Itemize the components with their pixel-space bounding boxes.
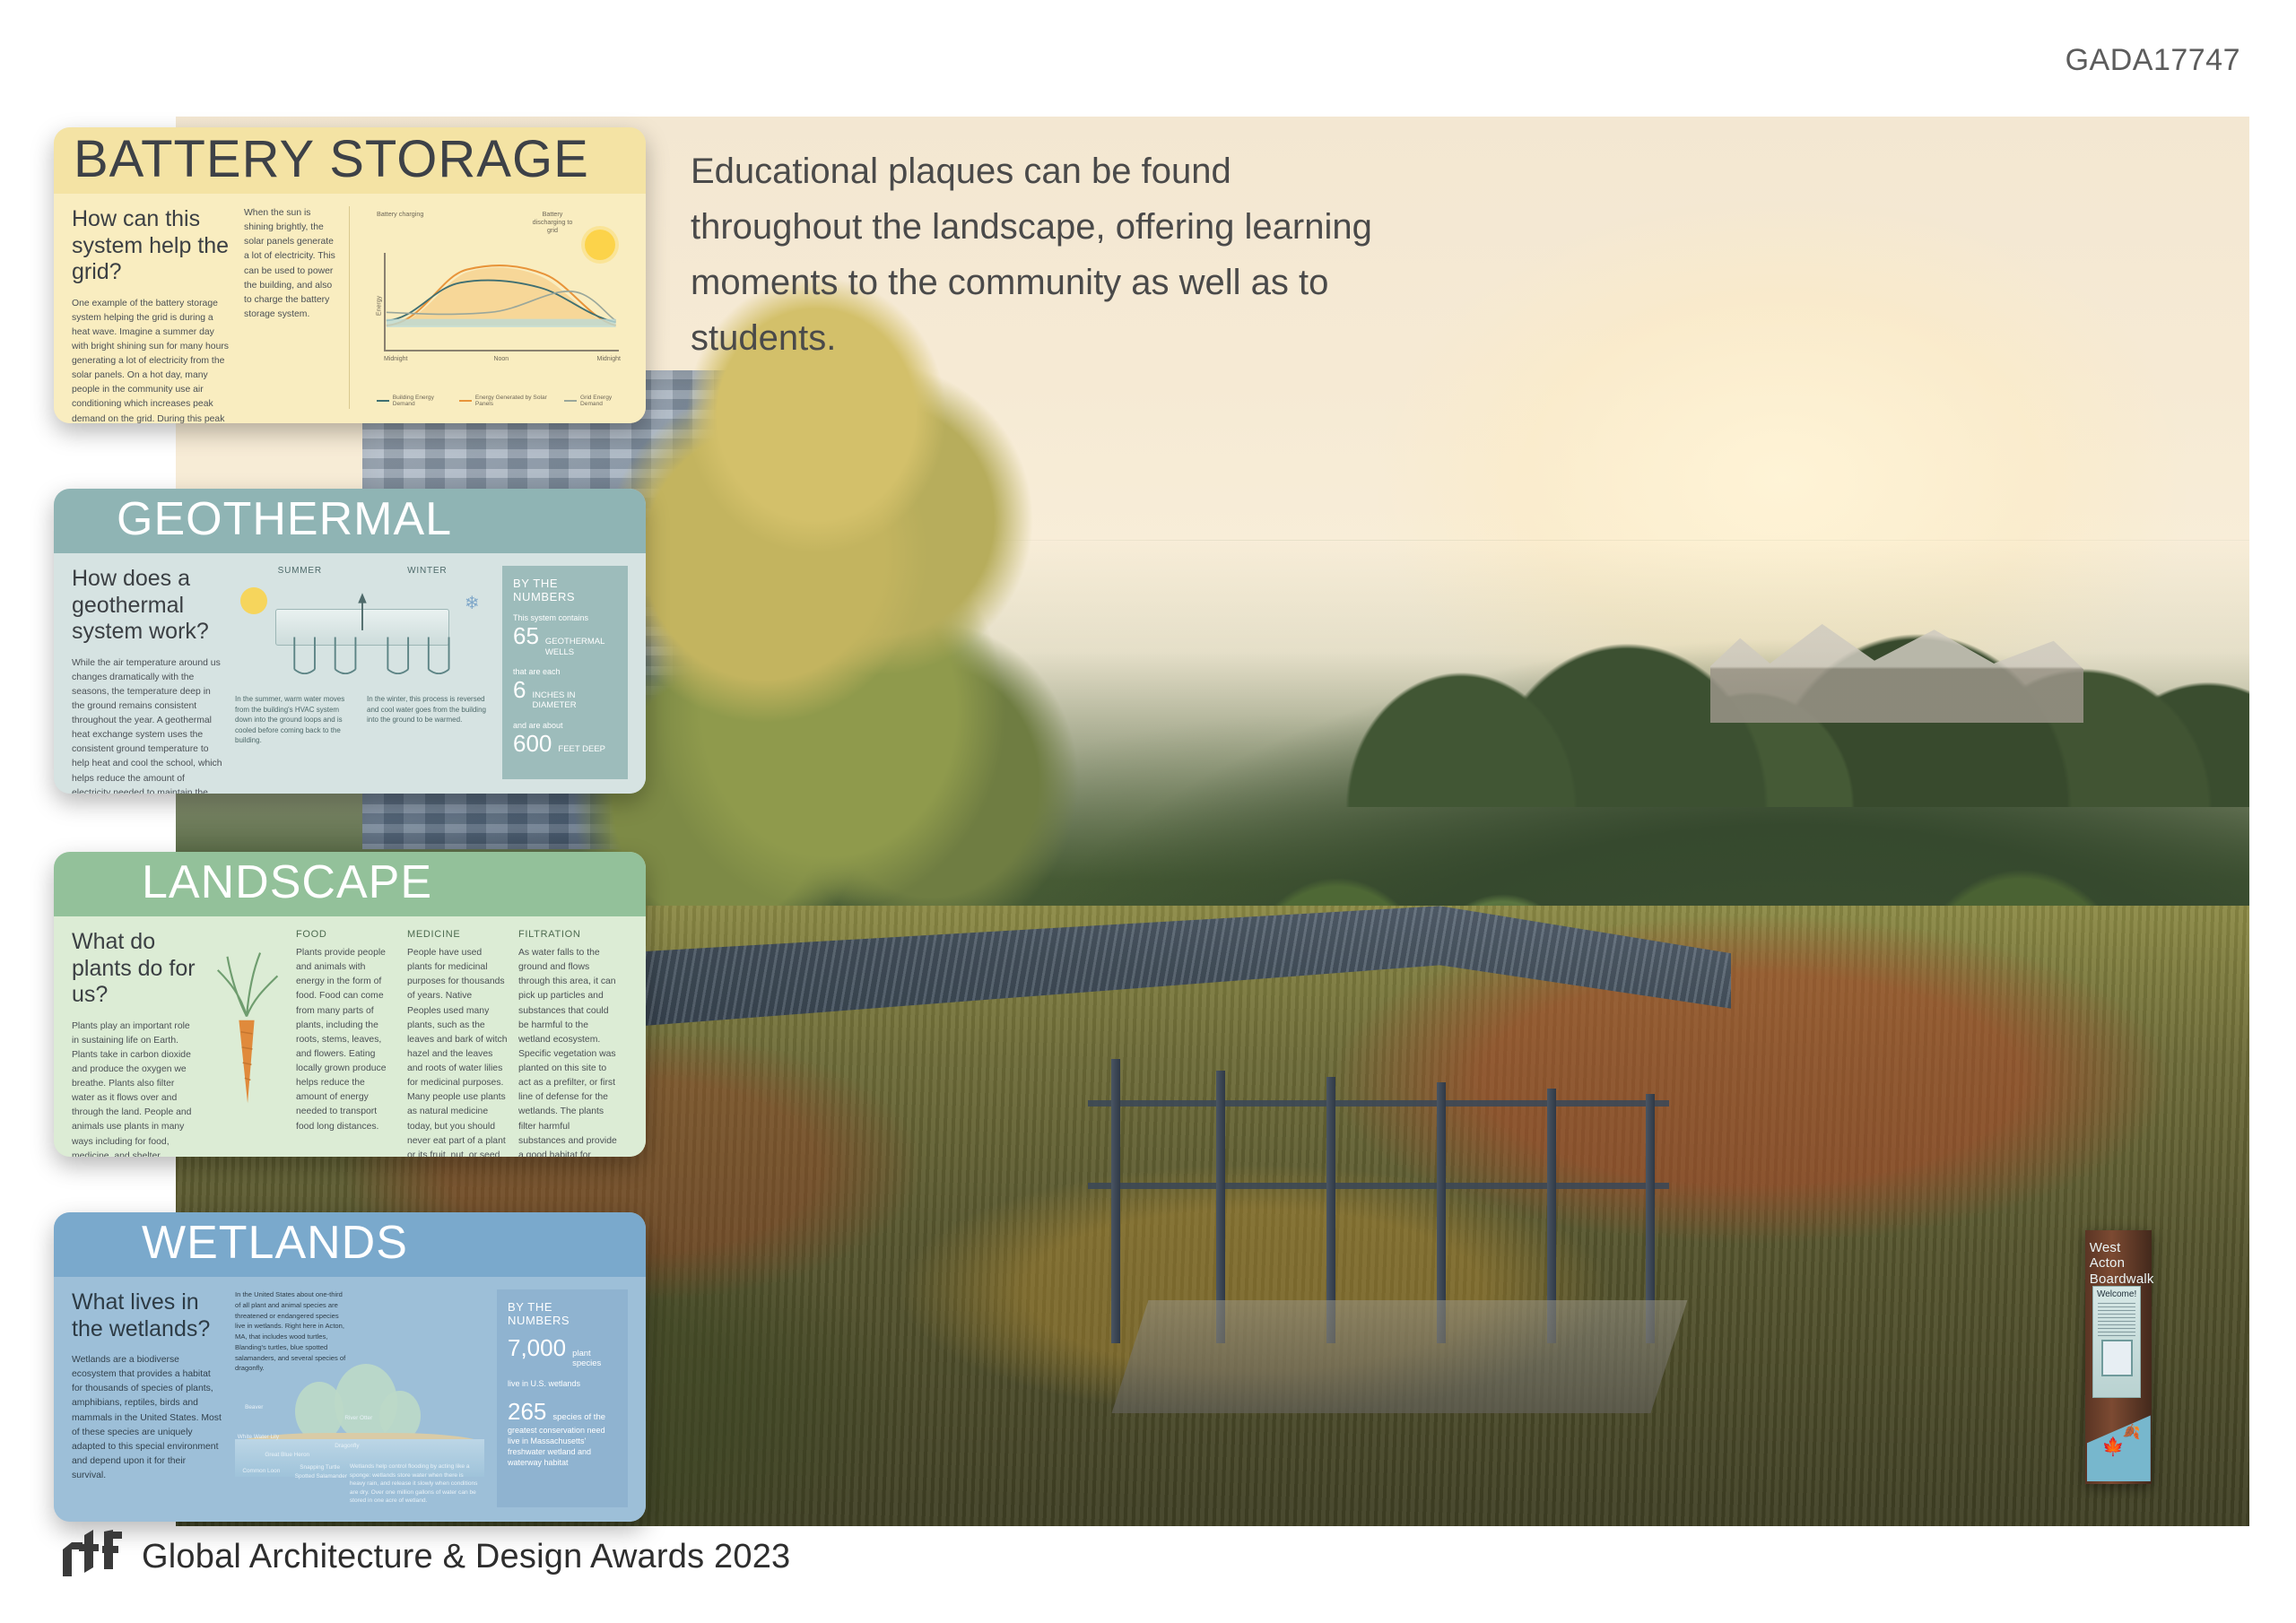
number-row: 600 FEET DEEP <box>513 732 617 755</box>
plaque-geothermal[interactable]: GEOTHERMAL How does a geothermal system … <box>54 489 646 794</box>
season-winter-label: WINTER <box>407 566 447 576</box>
species-label: Common Loon <box>242 1468 280 1474</box>
plaque-wetlands[interactable]: WETLANDS What lives in the wetlands? Wet… <box>54 1212 646 1522</box>
boardwalk-sign: West Acton Boardwalk Welcome! 🍁 🍂 <box>2085 1230 2152 1484</box>
season-summer-label: SUMMER <box>278 566 322 576</box>
plaque-body: What lives in the wetlands? Wetlands are… <box>54 1277 646 1522</box>
plaque-body: How can this system help the grid? One e… <box>54 194 646 423</box>
species-label: Great Blue Heron <box>265 1452 309 1458</box>
number-value: 7,000 <box>508 1336 566 1359</box>
maple-leaf-icon: 🍁 <box>2102 1436 2125 1458</box>
sign-info-panel: Welcome! <box>2092 1286 2142 1397</box>
plaque-landscape[interactable]: LANDSCAPE What do plants do for us? Plan… <box>54 852 646 1157</box>
plaque-header: LANDSCAPE <box>54 852 646 916</box>
species-label: White Water Lily <box>238 1434 279 1440</box>
number-value: 6 <box>513 678 526 701</box>
loop-diagram <box>235 581 490 674</box>
plaque-title: BATTERY STORAGE <box>74 129 589 189</box>
award-board: GADA17747 West Acton Boardwalk Welcome! <box>0 0 2296 1623</box>
legend-label: Energy Generated by Solar Panels <box>475 395 553 407</box>
wetlands-text-column: What lives in the wetlands? Wetlands are… <box>72 1289 222 1507</box>
boardwalk-deck <box>1111 1300 1687 1413</box>
caption-bottom-text: Wetlands help control flooding by acting… <box>350 1462 480 1506</box>
carrot-illustration <box>208 929 285 1142</box>
column-text: Plants provide people and animals with e… <box>296 946 396 1134</box>
species-label: Beaver <box>245 1404 263 1410</box>
species-label: Snapping Turtle <box>300 1464 340 1471</box>
caption-winter: In the winter, this process is reversed … <box>367 694 490 746</box>
column-text: As water falls to the ground and flows t… <box>518 946 619 1157</box>
plaque-title: GEOTHERMAL <box>74 492 452 546</box>
chart-plot-area: Energy Midnight Noon Midnight <box>375 233 622 378</box>
plaque-body: How does a geothermal system work? While… <box>54 553 646 794</box>
chart-curves <box>375 233 622 332</box>
plaque-question: What lives in the wetlands? <box>72 1289 222 1342</box>
legend-item: Building Energy Demand <box>377 395 448 407</box>
species-label: Dragonfly <box>335 1443 359 1449</box>
rtf-logo <box>63 1530 122 1584</box>
plaque-paragraph: Wetlands are a biodiverse ecosystem that… <box>72 1353 222 1483</box>
number-row: 7,000 plant species <box>508 1336 617 1369</box>
wetlands-by-the-numbers: BY THE NUMBERS 7,000 plant species live … <box>497 1289 628 1507</box>
number-row: 265 species of the <box>508 1400 617 1423</box>
number-unit: plant species <box>572 1349 617 1369</box>
plaque-title: LANDSCAPE <box>74 855 432 909</box>
legend-label: Building Energy Demand <box>393 395 448 407</box>
caption-left-text: In the United States about one-third of … <box>235 1289 350 1374</box>
plaque-paragraph: One example of the battery storage syste… <box>72 297 231 424</box>
caption-left-text: When the sun is shining brightly, the so… <box>244 206 340 322</box>
numbers-title: BY THE NUMBERS <box>508 1300 617 1327</box>
column-text: People have used plants for medicinal pu… <box>407 946 508 1157</box>
legend-item: Grid Energy Demand <box>564 395 628 407</box>
plaque-paragraph: While the air temperature around us chan… <box>72 656 222 794</box>
sign-panel-title: Welcome! <box>2093 1289 2141 1299</box>
plaque-battery-storage[interactable]: BATTERY STORAGE How can this system help… <box>54 127 646 423</box>
plaque-header: GEOTHERMAL <box>54 489 646 553</box>
number-row: 6 INCHES IN DIAMETER <box>513 678 617 711</box>
plaque-question: How does a geothermal system work? <box>72 566 222 646</box>
x-axis <box>384 350 619 352</box>
column-heading: FILTRATION <box>518 929 619 940</box>
landscape-column-filtration: FILTRATION As water falls to the ground … <box>518 929 619 1142</box>
number-lead: that are each <box>513 666 617 677</box>
plaque-header: WETLANDS <box>54 1212 646 1277</box>
season-headings: SUMMER WINTER <box>235 566 490 576</box>
landscape-text-column: What do plants do for us? Plants play an… <box>72 929 197 1142</box>
geothermal-by-the-numbers: BY THE NUMBERS This system contains 65 G… <box>502 566 628 779</box>
plaque-paragraph: Plants play an important role in sustain… <box>72 1020 197 1158</box>
x-tick-2: Midnight <box>597 356 621 362</box>
sign-panel-map <box>2101 1340 2133 1377</box>
plaque-question: How can this system help the grid? <box>72 206 231 286</box>
intro-paragraph: Educational plaques can be found through… <box>691 143 1372 366</box>
landscape-column-food: FOOD Plants provide people and animals w… <box>296 929 396 1142</box>
sign-title: West Acton Boardwalk <box>2090 1240 2148 1287</box>
number-unit: INCHES IN DIAMETER <box>532 690 617 711</box>
number-row: 65 GEOTHERMAL WELLS <box>513 624 617 657</box>
column-heading: MEDICINE <box>407 929 508 940</box>
battery-text-column: How can this system help the grid? One e… <box>72 206 231 409</box>
geothermal-text-column: How does a geothermal system work? While… <box>72 566 222 779</box>
chart-legend: Building Energy Demand Energy Generated … <box>377 395 628 407</box>
sign-leaf-graphic: 🍁 🍂 <box>2087 1415 2151 1481</box>
landscape-column-medicine: MEDICINE People have used plants for med… <box>407 929 508 1142</box>
number-lead: live in U.S. wetlands <box>508 1378 617 1389</box>
wetlands-illustration: In the United States about one-third of … <box>235 1289 484 1507</box>
oak-leaf-icon: 🍂 <box>2123 1423 2141 1441</box>
building-diagram: ❄ <box>235 581 490 689</box>
number-unit: GEOTHERMAL WELLS <box>545 637 617 657</box>
x-tick-0: Midnight <box>384 356 407 362</box>
number-value: 265 <box>508 1400 546 1423</box>
pavilion-structure <box>1088 1047 1668 1343</box>
legend-item: Energy Generated by Solar Panels <box>459 395 553 407</box>
annotation-charging: Battery charging <box>377 210 423 218</box>
number-value: 600 <box>513 732 552 755</box>
plaque-body: What do plants do for us? Plants play an… <box>54 916 646 1157</box>
battery-chart: Battery charging Battery discharging to … <box>362 206 628 409</box>
carrot-icon <box>208 929 285 1142</box>
geothermal-diagram: SUMMER WINTER ❄ <box>235 566 490 779</box>
column-heading: FOOD <box>296 929 396 940</box>
plaque-header: BATTERY STORAGE <box>54 127 646 194</box>
annotation-discharging: Battery discharging to grid <box>527 210 578 234</box>
footer: Global Architecture & Design Awards 2023 <box>63 1530 790 1584</box>
number-unit: FEET DEEP <box>558 744 605 754</box>
number-lead: greatest conservation need live in Massa… <box>508 1425 617 1469</box>
number-value: 65 <box>513 624 539 647</box>
footer-text: Global Architecture & Design Awards 2023 <box>142 1538 790 1576</box>
number-unit: species of the <box>552 1412 605 1422</box>
plaque-title: WETLANDS <box>74 1216 408 1270</box>
battery-caption-left: When the sun is shining brightly, the so… <box>244 206 350 409</box>
sign-panel-text-lines <box>2098 1303 2136 1336</box>
legend-label: Grid Energy Demand <box>580 395 628 407</box>
caption-summer: In the summer, warm water moves from the… <box>235 694 358 746</box>
entry-id: GADA17747 <box>2066 43 2240 78</box>
plaque-question: What do plants do for us? <box>72 929 197 1009</box>
species-label: River Otter <box>344 1415 372 1421</box>
species-label: Spotted Salamander <box>295 1473 347 1480</box>
x-tick-1: Noon <box>493 356 509 362</box>
numbers-title: BY THE NUMBERS <box>513 577 617 603</box>
